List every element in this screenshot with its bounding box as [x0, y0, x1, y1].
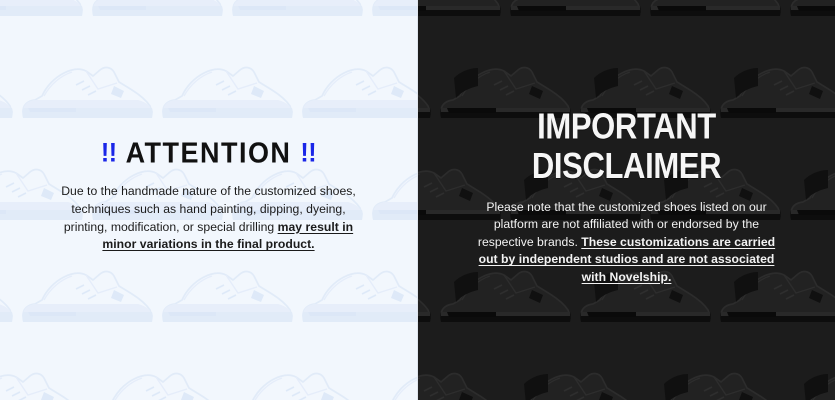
attention-body-text: Due to the handmade nature of the custom…: [56, 183, 361, 253]
attention-panel: !!ATTENTION!! Due to the handmade nature…: [0, 0, 418, 400]
double-exclamation-leading-icon: !!: [101, 141, 117, 168]
disclaimer-panel: IMPORTANT DISCLAIMER Please note that th…: [418, 0, 835, 400]
attention-heading-word: ATTENTION: [126, 140, 292, 169]
disclaimer-heading: IMPORTANT DISCLAIMER: [455, 106, 798, 185]
customization-notice-banner: !!ATTENTION!! Due to the handmade nature…: [0, 0, 835, 400]
disclaimer-heading-line-1: IMPORTANT: [455, 106, 798, 146]
attention-content: !!ATTENTION!! Due to the handmade nature…: [0, 140, 417, 253]
disclaimer-body-text: Please note that the customized shoes li…: [468, 199, 786, 287]
double-exclamation-trailing-icon: !!: [300, 141, 316, 168]
disclaimer-heading-line-2: DISCLAIMER: [455, 146, 798, 186]
attention-heading: !!ATTENTION!!: [30, 140, 387, 169]
disclaimer-content: IMPORTANT DISCLAIMER Please note that th…: [418, 110, 835, 287]
